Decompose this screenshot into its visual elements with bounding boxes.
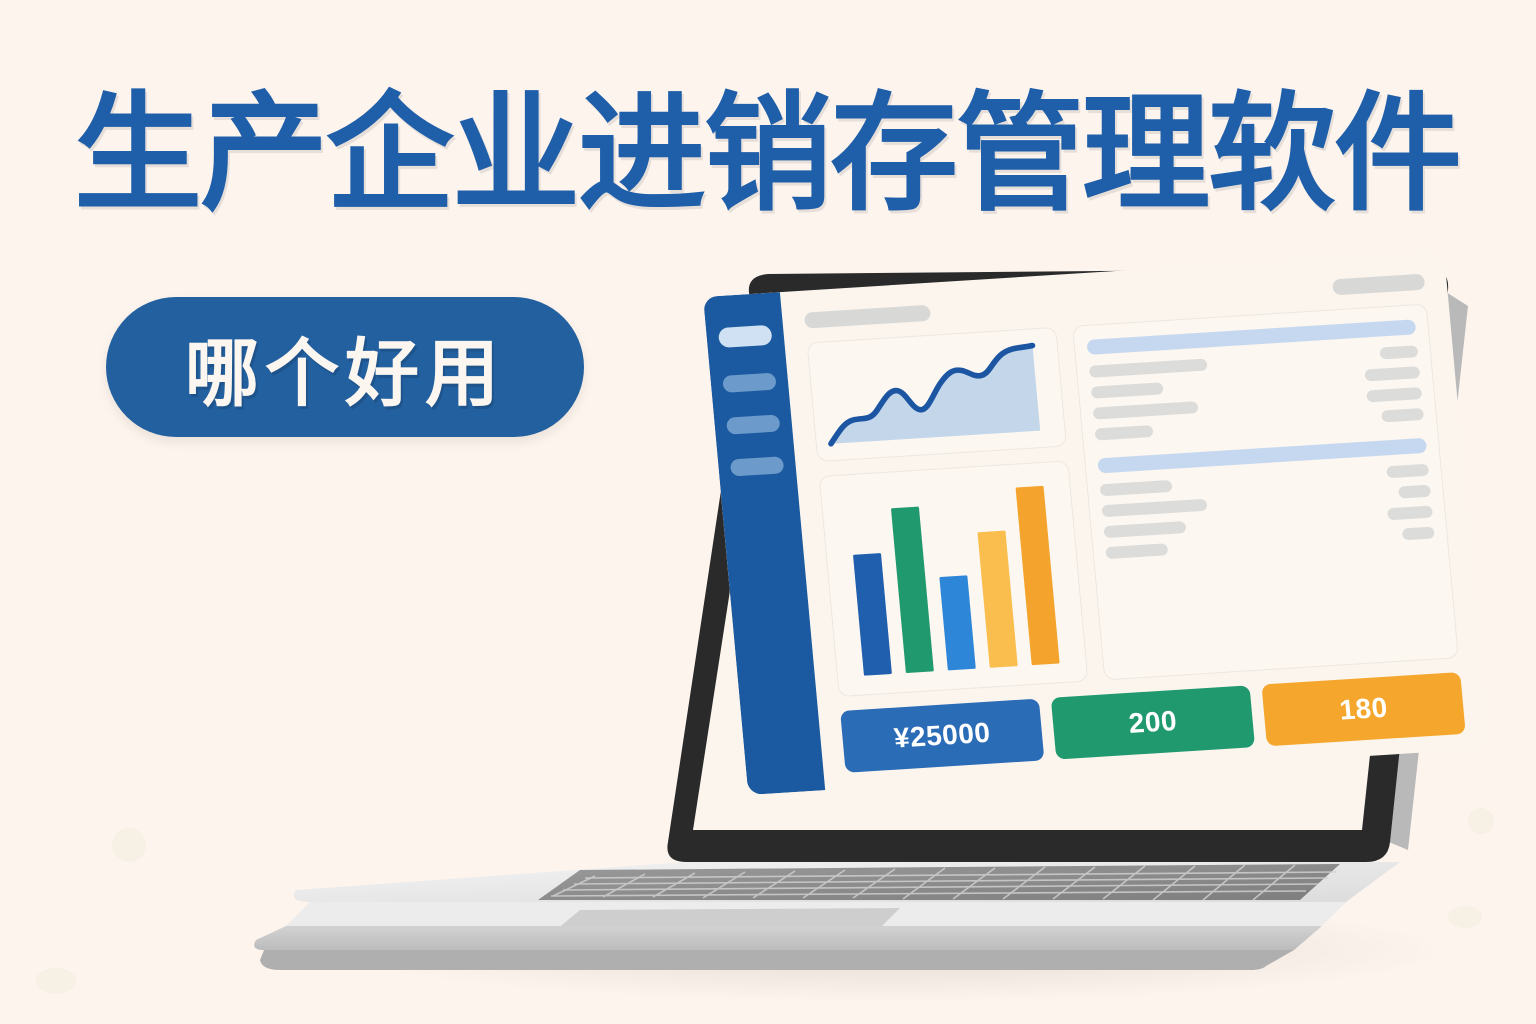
dashboard-screen: ¥25000 200 180 [703, 250, 1489, 795]
table-cell-value [1387, 506, 1433, 521]
sidebar-item-active[interactable] [718, 325, 773, 348]
sidebar-item-2[interactable] [722, 373, 776, 393]
table-cell-label [1095, 425, 1154, 441]
table-cell-label [1105, 543, 1168, 559]
category-bar-chart [819, 460, 1089, 697]
table-cell-value [1364, 366, 1420, 381]
bar-4 [977, 530, 1017, 667]
data-table-panel [1072, 304, 1459, 681]
table-cell-value [1381, 408, 1424, 423]
dashboard-left-column [807, 327, 1089, 697]
table-cell-value [1402, 526, 1435, 540]
sidebar-item-3[interactable] [726, 414, 780, 434]
decorative-dot [112, 828, 146, 862]
orders-kpi-card[interactable]: 200 [1051, 685, 1255, 759]
table-cell-label [1089, 358, 1208, 377]
page-title: 生产企业进销存管理软件 [74, 86, 1536, 224]
dashboard-right-column [1072, 304, 1459, 681]
trend-area-chart [807, 327, 1067, 462]
laptop-base-front [254, 926, 1322, 950]
laptop-base-bottom [260, 950, 1294, 970]
action-button-placeholder[interactable] [1332, 274, 1425, 296]
dashboard-content [807, 304, 1459, 698]
bar-3 [939, 575, 975, 670]
bar-5 [1016, 486, 1060, 665]
bar-series [848, 486, 1060, 676]
table-cell-label [1093, 401, 1199, 420]
revenue-kpi-card[interactable]: ¥25000 [840, 699, 1044, 773]
orders-kpi-value: 200 [1127, 705, 1178, 740]
table-cell-value [1366, 387, 1422, 402]
table-cell-label [1102, 499, 1208, 518]
sidebar-item-4[interactable] [730, 456, 784, 476]
page-title-placeholder [804, 305, 931, 329]
table-cell-value [1379, 345, 1418, 359]
inventory-kpi-card[interactable]: 180 [1261, 672, 1465, 746]
table-cell-label [1100, 480, 1173, 496]
decorative-dot [36, 968, 76, 994]
table-cell-value [1386, 464, 1429, 479]
bar-2 [891, 506, 934, 673]
bar-1 [853, 553, 892, 676]
table-cell-value [1398, 485, 1431, 499]
inventory-kpi-value: 180 [1338, 692, 1389, 727]
table-cell-label [1091, 382, 1164, 398]
dashboard-main: ¥25000 200 180 [780, 250, 1489, 790]
table-cell-label [1103, 521, 1186, 538]
poster-canvas: 生产企业进销存管理软件 哪个好用 [0, 0, 1536, 1024]
laptop-keyboard [538, 864, 1340, 900]
revenue-kpi-value: ¥25000 [893, 717, 992, 755]
